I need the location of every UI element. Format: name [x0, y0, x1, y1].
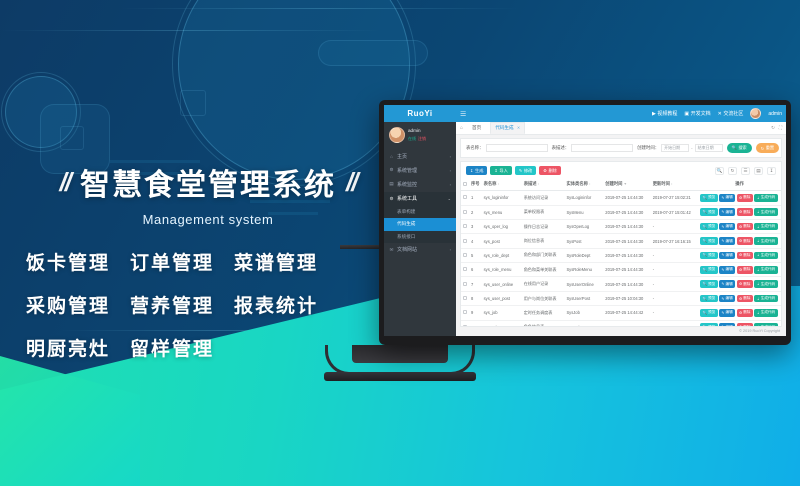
cell-table-name: sys_job	[482, 306, 522, 320]
edit-button-label: 修改	[524, 168, 532, 174]
monitor-neck	[352, 345, 448, 363]
topnav-item-community[interactable]: ✕ 交流社区	[718, 110, 744, 117]
header-label: 表描述	[524, 181, 537, 186]
cell-table-desc: 用户与岗位关联表	[522, 291, 565, 305]
cell-table-name: sys_role_dept	[482, 248, 522, 262]
pencil-icon: ✎	[722, 297, 725, 301]
row-action-gencode[interactable]: ⇣生成代码	[754, 194, 777, 202]
reset-button-label: 重置	[766, 145, 774, 151]
table-row[interactable]: 6sys_role_menu角色和菜单关联表SysRoleMenu2019-07…	[461, 263, 781, 277]
row-checkbox-cell[interactable]	[461, 219, 469, 233]
row-action-label: 编辑	[726, 195, 733, 200]
generate-button-label: 生成	[475, 168, 483, 174]
checkbox-icon[interactable]	[463, 210, 467, 214]
tab-label: 首页	[472, 125, 481, 130]
chevron-right-icon: ›	[450, 154, 451, 159]
bg-line-2	[120, 8, 520, 9]
cell-actions: 🔍预览✎编辑♻删除⇣生成代码	[698, 306, 781, 320]
cell-update-time: -	[651, 248, 698, 262]
row-action-label: 预览	[708, 253, 715, 258]
cell-entity-class: SysLogininfor	[564, 191, 603, 205]
columns-icon[interactable]: ☰	[741, 167, 750, 175]
feature-item: 饭卡管理	[26, 248, 110, 275]
status-logout-badge[interactable]: 注销	[418, 136, 426, 142]
row-action-gencode[interactable]: ⇣生成代码	[754, 237, 777, 245]
sort-icon: ↕	[538, 182, 540, 186]
header-label: 实体类名称	[566, 181, 587, 186]
row-checkbox-cell[interactable]	[461, 248, 469, 262]
cell-entity-class: SysPost	[564, 234, 603, 248]
cell-update-time: -	[651, 306, 698, 320]
cell-entity-class: SysMenu	[564, 205, 603, 219]
trash-icon: ♻	[739, 311, 742, 315]
sort-icon: ↕	[497, 182, 499, 186]
cell-update-time: -	[651, 291, 698, 305]
import-button[interactable]: ↥ 导入	[490, 166, 511, 175]
trash-icon: ♻	[739, 225, 742, 229]
import-button-label: 导入	[499, 168, 507, 174]
cell-create-time: 2019-07-25 10:04:30	[603, 291, 650, 305]
row-action-label: 生成代码	[761, 195, 775, 200]
trash-icon: ♻	[739, 282, 742, 286]
screen: RuoYi ☰ ▶ 视频教程 ▣ 开发文档 ✕	[384, 105, 786, 336]
search-icon: 🔍	[732, 145, 737, 151]
checkbox-icon[interactable]	[463, 195, 467, 199]
row-action-label: 预览	[708, 224, 715, 229]
row-action-preview[interactable]: 🔍预览	[700, 237, 717, 245]
row-action-gencode[interactable]: ⇣生成代码	[754, 266, 777, 274]
row-action-edit[interactable]: ✎编辑	[719, 280, 735, 288]
title-text: 智慧食堂管理系统	[80, 160, 336, 204]
row-action-delete[interactable]: ♻删除	[737, 194, 753, 202]
row-action-label: 编辑	[726, 267, 733, 272]
field-table-desc: 表描述：	[552, 144, 634, 152]
home-icon[interactable]: ⌂	[460, 125, 463, 131]
row-action-label: 预览	[708, 296, 715, 301]
avatar[interactable]	[389, 127, 405, 143]
row-action-delete[interactable]: ♻删除	[737, 280, 753, 288]
header-create-time[interactable]: 创建时间▼	[603, 178, 650, 191]
row-action-label: 删除	[743, 239, 750, 244]
header-label: 表名称	[484, 181, 497, 186]
gear-icon: ⚙	[389, 167, 394, 173]
sidebar-item-system-tools[interactable]: ⚙ 系统工具 ⌄	[384, 192, 456, 206]
table-toolbar: ↧ 生成 ↥ 导入 ✎ 修改 ♻ 删除	[460, 161, 782, 178]
account-label[interactable]: admin	[768, 111, 782, 117]
row-checkbox-cell[interactable]	[461, 306, 469, 320]
chevron-right-icon: ›	[450, 168, 451, 173]
checkbox-icon[interactable]	[463, 282, 467, 286]
row-action-delete[interactable]: ♻删除	[737, 266, 753, 274]
trash-icon: ♻	[739, 268, 742, 272]
trash-icon: ♻	[739, 196, 742, 200]
pencil-icon: ✎	[722, 282, 725, 286]
download-icon: ⇣	[757, 282, 760, 286]
table-row[interactable]: 5sys_role_dept角色和部门关联表SysRoleDept2019-07…	[461, 248, 781, 262]
download-icon: ⇣	[757, 225, 760, 229]
search-icon[interactable]: 🔍	[715, 167, 724, 175]
row-action-label: 删除	[743, 267, 750, 272]
row-action-label: 编辑	[726, 239, 733, 244]
date-end-input[interactable]: 结束日期	[695, 144, 723, 152]
fullscreen-icon[interactable]: ⛶	[779, 125, 782, 131]
upload-icon: ↥	[494, 168, 498, 173]
cell-index: 4	[469, 234, 482, 248]
row-action-gencode[interactable]: ⇣生成代码	[754, 280, 777, 288]
cell-table-desc: 角色和菜单关联表	[522, 263, 565, 277]
sidebar: admin 在线 注销 ⌂ 主页 ›	[384, 122, 456, 336]
sidebar-item-label: 系统工具	[397, 195, 417, 202]
row-action-gencode[interactable]: ⇣生成代码	[754, 309, 777, 317]
sidebar-item-system-monitor[interactable]: ▤ 系统监控 ›	[384, 177, 456, 191]
download-icon: ⇣	[757, 239, 760, 243]
cell-table-desc: 操作日志记录	[522, 219, 565, 233]
generate-button[interactable]: ↧ 生成	[466, 166, 487, 175]
trash-icon: ♻	[739, 253, 742, 257]
search-button[interactable]: 🔍 搜索	[727, 143, 752, 153]
search-icon: 🔍	[703, 282, 707, 286]
close-icon[interactable]: ✕	[517, 125, 520, 130]
checkbox-icon[interactable]	[463, 224, 467, 228]
date-start-input[interactable]: 开始日期	[661, 144, 689, 152]
checkbox-icon[interactable]	[463, 182, 467, 186]
cell-create-time: 2019-07-25 14:44:30	[603, 219, 650, 233]
data-table-container: 序号 表名称↕ 表描述↕ 实体类名称↕ 创建时间▼ 更新时间↕ 操作 1sys_…	[460, 178, 782, 326]
cell-table-desc: 定时任务调度表	[522, 306, 565, 320]
bg-rounded-rect-3	[180, 90, 206, 116]
refresh-icon: ↻	[761, 146, 765, 151]
sidebar-subitem-label: 表单构建	[397, 209, 415, 214]
edit-button[interactable]: ✎ 修改	[515, 166, 536, 175]
row-action-edit[interactable]: ✎编辑	[719, 252, 735, 260]
delete-button-label: 删除	[548, 168, 556, 174]
row-checkbox-cell[interactable]	[461, 291, 469, 305]
download-icon: ⇣	[757, 196, 760, 200]
delete-button[interactable]: ♻ 删除	[539, 166, 561, 175]
app-logo: RuoYi	[384, 105, 456, 122]
row-action-preview[interactable]: 🔍预览	[700, 309, 717, 317]
row-action-gencode[interactable]: ⇣生成代码	[754, 252, 777, 260]
row-action-label: 删除	[743, 282, 750, 287]
download-icon: ⇣	[757, 297, 760, 301]
sidebar-subitem-form-builder[interactable]: 表单构建	[384, 206, 456, 218]
header-update-time[interactable]: 更新时间↕	[651, 178, 698, 191]
search-panel: 表名称： 表描述： 创建时间： 开始日期 - 结束日	[460, 138, 782, 158]
download-icon: ⇣	[757, 210, 760, 214]
poster-headline-block: // 智慧食堂管理系统 // Management system	[28, 160, 388, 227]
sort-icon: ↕	[589, 182, 591, 186]
checkbox-icon[interactable]	[463, 296, 467, 300]
profile-username: admin	[408, 128, 421, 133]
header-label: 操作	[735, 181, 744, 186]
row-action-label: 删除	[743, 310, 750, 315]
search-icon: 🔍	[703, 253, 707, 257]
chevron-right-icon: ›	[450, 247, 451, 252]
sidebar-item-system-manage[interactable]: ⚙ 系统管理 ›	[384, 163, 456, 177]
table-desc-input[interactable]	[571, 144, 633, 152]
table-row[interactable]: 8sys_user_post用户与岗位关联表SysUserPost2019-07…	[461, 291, 781, 305]
cell-create-time: 2019-07-25 14:44:30	[603, 277, 650, 291]
header-select-all[interactable]	[461, 178, 469, 191]
row-checkbox-cell[interactable]	[461, 191, 469, 205]
row-action-preview[interactable]: 🔍预览	[700, 223, 717, 231]
topnav-label: 视频教程	[657, 110, 677, 117]
header-entity-class[interactable]: 实体类名称↕	[564, 178, 603, 191]
row-action-delete[interactable]: ♻删除	[737, 223, 753, 231]
header-label: 更新时间	[653, 181, 670, 186]
row-action-label: 预览	[708, 239, 715, 244]
cell-index: 2	[469, 205, 482, 219]
row-action-label: 生成代码	[761, 267, 775, 272]
row-action-delete[interactable]: ♻删除	[737, 208, 753, 216]
slash-right: //	[346, 167, 356, 198]
table-row[interactable]: 1sys_logininfor系统访问记录SysLogininfor2019-0…	[461, 191, 781, 205]
row-action-edit[interactable]: ✎编辑	[719, 223, 735, 231]
cell-entity-class: SysUserPost	[564, 291, 603, 305]
trash-icon: ♻	[739, 239, 742, 243]
pencil-icon: ✎	[722, 210, 725, 214]
feature-item: 菜谱管理	[234, 248, 318, 275]
row-action-preview[interactable]: 🔍预览	[700, 266, 717, 274]
sort-desc-icon: ▼	[623, 182, 627, 186]
bg-rounded-rect-4	[318, 40, 428, 66]
row-action-gencode[interactable]: ⇣生成代码	[754, 223, 777, 231]
row-action-edit[interactable]: ✎编辑	[719, 237, 735, 245]
cell-table-name: sys_post	[482, 234, 522, 248]
row-action-preview[interactable]: 🔍预览	[700, 208, 717, 216]
row-action-label: 删除	[743, 210, 750, 215]
refresh-icon[interactable]: ↻	[771, 125, 775, 131]
field-label: 表描述：	[552, 145, 570, 151]
cell-table-name: sys_role_menu	[482, 263, 522, 277]
table-row[interactable]: 9sys_job定时任务调度表SysJob2019-07-25 14:44:42…	[461, 306, 781, 320]
topnav-item-docs[interactable]: ▣ 开发文档	[684, 110, 710, 117]
row-action-label: 删除	[743, 253, 750, 258]
cell-table-desc: 角色和部门关联表	[522, 248, 565, 262]
checkbox-icon[interactable]	[463, 253, 467, 257]
cell-index: 6	[469, 263, 482, 277]
checkbox-icon[interactable]	[463, 267, 467, 271]
list-icon[interactable]: ▤	[754, 167, 763, 175]
sidebar-item-label: 系统管理	[397, 167, 417, 174]
row-action-label: 预览	[708, 310, 715, 315]
field-label: 表名称：	[466, 145, 484, 151]
copyright-text: © 2019 RuoYi Copyright	[456, 327, 786, 337]
table-name-input[interactable]	[486, 144, 548, 152]
tab-label: 代码生成	[495, 125, 513, 130]
doc-icon: ✉	[389, 247, 394, 253]
trash-icon: ♻	[543, 168, 547, 173]
table-row[interactable]: 3sys_oper_log操作日志记录SysOperLog2019-07-25 …	[461, 219, 781, 233]
pencil-icon: ✎	[722, 196, 725, 200]
feature-row-2: 采购管理 营养管理 报表统计	[26, 291, 386, 318]
table-row[interactable]: 2sys_menu菜单权限表SysMenu2019-07-25 14:44:30…	[461, 205, 781, 219]
sidebar-nav: ⌂ 主页 › ⚙ 系统管理 › ▤ 系统监控 ›	[384, 149, 456, 257]
row-action-edit[interactable]: ✎编辑	[719, 194, 735, 202]
download-icon: ⇣	[757, 253, 760, 257]
row-action-preview[interactable]: 🔍预览	[700, 194, 717, 202]
data-table: 序号 表名称↕ 表描述↕ 实体类名称↕ 创建时间▼ 更新时间↕ 操作 1sys_…	[461, 178, 781, 326]
row-action-gencode[interactable]: ⇣生成代码	[754, 208, 777, 216]
cell-table-desc: 系统访问记录	[522, 191, 565, 205]
download-icon: ⇣	[757, 311, 760, 315]
row-action-edit[interactable]: ✎编辑	[719, 309, 735, 317]
row-action-label: 编辑	[726, 253, 733, 258]
header-index[interactable]: 序号	[469, 178, 482, 191]
feature-item: 留样管理	[130, 334, 214, 361]
search-icon: 🔍	[703, 196, 707, 200]
cell-index: 9	[469, 306, 482, 320]
bg-line-1	[0, 30, 380, 31]
row-action-delete[interactable]: ♻删除	[737, 295, 753, 303]
export-icon[interactable]: ↧	[767, 167, 776, 175]
cell-index: 7	[469, 277, 482, 291]
feature-item: 明厨亮灶	[26, 334, 110, 361]
row-action-preview[interactable]: 🔍预览	[700, 295, 717, 303]
cell-update-time: 2019-07-27 15:02:21	[651, 191, 698, 205]
refresh-icon[interactable]: ↻	[728, 167, 737, 175]
cell-entity-class: SysJob	[564, 306, 603, 320]
row-action-label: 生成代码	[761, 310, 775, 315]
row-action-gencode[interactable]: ⇣生成代码	[754, 295, 777, 303]
field-create-time: 创建时间： 开始日期 - 结束日期	[637, 144, 722, 152]
row-action-label: 预览	[708, 195, 715, 200]
row-action-edit[interactable]: ✎编辑	[719, 295, 735, 303]
cell-table-desc: 在线用户记录	[522, 277, 565, 291]
row-action-delete[interactable]: ♻删除	[737, 237, 753, 245]
reset-button[interactable]: ↻ 重置	[756, 143, 779, 153]
row-checkbox-cell[interactable]	[461, 234, 469, 248]
top-navigation: ☰ ▶ 视频教程 ▣ 开发文档 ✕ 交流社区	[456, 105, 786, 122]
sidebar-item-label: 系统监控	[397, 181, 417, 188]
cell-entity-class: SysUserOnline	[564, 277, 603, 291]
row-checkbox-cell[interactable]	[461, 263, 469, 277]
sidebar-subitem-code-generation[interactable]: 代码生成	[384, 218, 456, 230]
field-table-name: 表名称：	[466, 144, 548, 152]
sidebar-item-home[interactable]: ⌂ 主页 ›	[384, 149, 456, 163]
monitor-bezel: RuoYi ☰ ▶ 视频教程 ▣ 开发文档 ✕	[379, 100, 791, 345]
slash-left: //	[60, 167, 70, 198]
row-action-preview[interactable]: 🔍预览	[700, 280, 717, 288]
row-action-label: 生成代码	[761, 224, 775, 229]
row-action-label: 编辑	[726, 296, 733, 301]
row-action-edit[interactable]: ✎编辑	[719, 208, 735, 216]
cell-actions: 🔍预览✎编辑♻删除⇣生成代码	[698, 234, 781, 248]
table-row[interactable]: 7sys_user_online在线用户记录SysUserOnline2019-…	[461, 277, 781, 291]
field-label: 创建时间：	[637, 145, 659, 151]
row-action-delete[interactable]: ♻删除	[737, 309, 753, 317]
tools-icon: ⚙	[389, 196, 394, 202]
cell-table-name: sys_user_post	[482, 291, 522, 305]
cell-index: 1	[469, 191, 482, 205]
cell-entity-class: SysOperLog	[564, 219, 603, 233]
sidebar-profile: admin 在线 注销	[384, 122, 456, 147]
cell-create-time: 2019-07-25 14:44:30	[603, 263, 650, 277]
cell-create-time: 2019-07-25 14:44:30	[603, 248, 650, 262]
download-icon: ↧	[470, 168, 474, 173]
cell-update-time: -	[651, 219, 698, 233]
row-action-label: 预览	[708, 282, 715, 287]
cell-create-time: 2019-07-25 14:44:30	[603, 191, 650, 205]
sidebar-subitem-system-interface[interactable]: 系统接口	[384, 231, 456, 243]
row-action-label: 生成代码	[761, 239, 775, 244]
monitor-base	[324, 372, 476, 381]
table-header-row: 序号 表名称↕ 表描述↕ 实体类名称↕ 创建时间▼ 更新时间↕ 操作	[461, 178, 781, 191]
sidebar-subitem-label: 代码生成	[397, 221, 415, 226]
checkbox-icon[interactable]	[463, 310, 467, 314]
cell-update-time: -	[651, 263, 698, 277]
cell-actions: 🔍预览✎编辑♻删除⇣生成代码	[698, 248, 781, 262]
cell-table-name: sys_menu	[482, 205, 522, 219]
row-action-label: 预览	[708, 210, 715, 215]
monitor-icon: ▤	[389, 181, 394, 187]
tab-code-generation[interactable]: 代码生成 ✕	[490, 122, 525, 134]
sidebar-item-label: 文档网站	[397, 246, 417, 253]
cell-actions: 🔍预览✎编辑♻删除⇣生成代码	[698, 263, 781, 277]
row-action-preview[interactable]: 🔍预览	[700, 252, 717, 260]
row-action-label: 编辑	[726, 282, 733, 287]
profile-text: admin 在线 注销	[408, 128, 426, 142]
app-topbar: RuoYi ☰ ▶ 视频教程 ▣ 开发文档 ✕	[384, 105, 786, 122]
row-action-delete[interactable]: ♻删除	[737, 252, 753, 260]
cell-index: 8	[469, 291, 482, 305]
row-checkbox-cell[interactable]	[461, 205, 469, 219]
row-action-edit[interactable]: ✎编辑	[719, 266, 735, 274]
video-icon: ▶	[652, 111, 656, 117]
tab-home[interactable]: 首页	[467, 122, 486, 134]
feature-item: 订单管理	[130, 248, 214, 275]
cell-create-time: 2019-07-25 14:44:30	[603, 205, 650, 219]
feature-item: 采购管理	[26, 291, 110, 318]
pencil-icon: ✎	[519, 168, 523, 173]
avatar[interactable]	[750, 108, 761, 119]
row-action-label: 预览	[708, 267, 715, 272]
app-body: admin 在线 注销 ⌂ 主页 ›	[384, 122, 786, 336]
sidebar-item-doc-site[interactable]: ✉ 文档网站 ›	[384, 243, 456, 257]
header-table-desc[interactable]: 表描述↕	[522, 178, 565, 191]
pencil-icon: ✎	[722, 253, 725, 257]
row-action-label: 生成代码	[761, 253, 775, 258]
pencil-icon: ✎	[722, 225, 725, 229]
sidebar-item-label: 主页	[397, 153, 407, 160]
status-online-badge[interactable]: 在线	[408, 136, 416, 142]
top-navigation-right: ▶ 视频教程 ▣ 开发文档 ✕ 交流社区 admin	[652, 108, 782, 119]
search-icon: 🔍	[703, 210, 707, 214]
row-action-label: 生成代码	[761, 282, 775, 287]
cell-entity-class: SysRoleMenu	[564, 263, 603, 277]
download-icon: ⇣	[757, 268, 760, 272]
search-icon: 🔍	[703, 297, 707, 301]
hamburger-icon[interactable]: ☰	[460, 110, 466, 118]
row-checkbox-cell[interactable]	[461, 277, 469, 291]
search-icon: 🔍	[703, 225, 707, 229]
checkbox-icon[interactable]	[463, 239, 467, 243]
row-action-label: 编辑	[726, 210, 733, 215]
home-icon: ⌂	[389, 154, 394, 159]
search-icon: 🔍	[703, 268, 707, 272]
table-row[interactable]: 4sys_post岗位信息表SysPost2019-07-25 14:44:30…	[461, 234, 781, 248]
header-table-name[interactable]: 表名称↕	[482, 178, 522, 191]
row-action-label: 删除	[743, 224, 750, 229]
cell-index: 3	[469, 219, 482, 233]
topnav-item-video[interactable]: ▶ 视频教程	[652, 110, 677, 117]
page-subtitle: Management system	[28, 212, 388, 227]
cell-table-name: sys_oper_log	[482, 219, 522, 233]
cell-table-desc: 菜单权限表	[522, 205, 565, 219]
cell-index: 5	[469, 248, 482, 262]
content-area: ⌂ 首页 代码生成 ✕ ↻ ⛶	[456, 122, 786, 336]
row-action-label: 删除	[743, 195, 750, 200]
